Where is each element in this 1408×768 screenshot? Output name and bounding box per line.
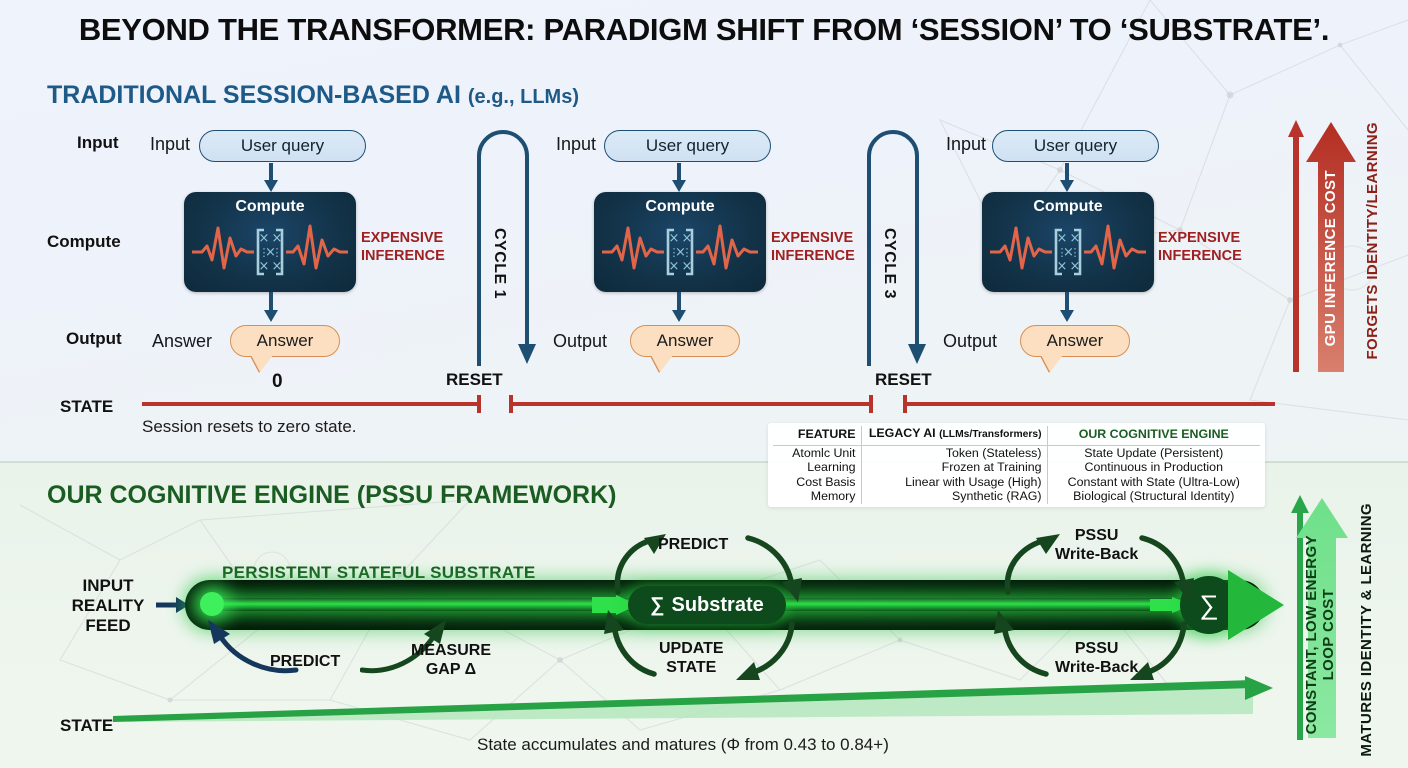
cell-feature: Memory: [773, 489, 861, 504]
svg-text:×: ×: [682, 259, 693, 274]
cycle2-compute-title: Compute: [594, 198, 766, 216]
cell-legacy: Synthetic (RAG): [861, 489, 1047, 504]
table-body: Atomlc Unit Token (Stateless) State Upda…: [773, 445, 1260, 504]
svg-text:×: ×: [669, 259, 680, 274]
table-header-ours: OUR COGNITIVE ENGINE: [1047, 426, 1260, 445]
table-row: Memory Synthetic (RAG) Biological (Struc…: [773, 489, 1260, 504]
cycle3-compute-title: Compute: [982, 198, 1154, 216]
cycle1-user-query-pill[interactable]: User query: [199, 130, 366, 162]
table-row: Cost Basis Linear with Usage (High) Cons…: [773, 475, 1260, 490]
top-section-heading: TRADITIONAL SESSION-BASED AI (e.g., LLMs…: [47, 81, 579, 110]
cycle2-compute-box: Compute × × ⋮ × ⋮ × ×: [594, 192, 766, 292]
cycle2-arrow-compute-to-answer: [670, 292, 688, 323]
cycle3-output-label: Output: [943, 331, 997, 352]
svg-text:⋮: ⋮: [682, 246, 693, 259]
bottom-section-heading: OUR COGNITIVE ENGINE (PSSU FRAMEWORK): [47, 481, 616, 510]
table-row: Atomlc Unit Token (Stateless) State Upda…: [773, 445, 1260, 460]
cycle3-compute-box: Compute × × ⋮ × ⋮ × ×: [982, 192, 1154, 292]
page-title: BEYOND THE TRANSFORMER: PARADIGM SHIFT F…: [0, 12, 1408, 48]
cycle-1-label: CYCLE 1: [490, 228, 508, 299]
pssu-writeback-bottom-label: PSSU Write-Back: [1055, 639, 1138, 677]
state-segment-3: [903, 402, 1275, 406]
svg-text:×: ×: [1070, 231, 1081, 246]
infographic-root: BEYOND THE TRANSFORMER: PARADIGM SHIFT F…: [0, 0, 1408, 768]
svg-text:×: ×: [272, 259, 283, 274]
row-label-state: STATE: [60, 397, 113, 417]
cycle1-answer-bubble[interactable]: Answer: [230, 325, 340, 357]
comparison-table: FEATURE LEGACY AI (LLMs/Transformers) OU…: [768, 423, 1265, 507]
cell-ours: State Update (Persistent): [1047, 445, 1260, 460]
cycle1-arrow-compute-to-answer: [262, 292, 280, 323]
row-label-compute: Compute: [47, 232, 121, 252]
bottom-state-label: STATE: [60, 716, 113, 736]
top-heading-main: TRADITIONAL SESSION-BASED AI: [47, 81, 461, 109]
cycle1-compute-title: Compute: [184, 198, 356, 216]
cycle1-input-label: Input: [150, 134, 190, 155]
table-header-row: FEATURE LEGACY AI (LLMs/Transformers) OU…: [773, 426, 1260, 445]
cycle2-user-query-pill[interactable]: User query: [604, 130, 771, 162]
cell-feature: Learning: [773, 460, 861, 475]
cycle3-user-query-pill[interactable]: User query: [992, 130, 1159, 162]
table-header-feature: FEATURE: [773, 426, 861, 445]
svg-text:×: ×: [682, 231, 693, 246]
cycle1-arrow-query-to-compute: [262, 163, 280, 193]
row-label-input: Input: [77, 133, 119, 153]
state-segment-2: [509, 402, 871, 406]
constant-low-energy-label: CONSTANT, LOW ENERGY LOOP COST: [1303, 535, 1337, 734]
compute-waveform-matrix-icon: × × ⋮ × ⋮ × ×: [594, 216, 766, 286]
substrate-origin-dot: [200, 592, 224, 616]
cycle3-answer-bubble[interactable]: Answer: [1020, 325, 1130, 357]
cell-feature: Atomlc Unit: [773, 445, 861, 460]
forgets-identity-label: FORGETS IDENTITY/LEARNING: [1364, 122, 1381, 360]
svg-text:×: ×: [669, 231, 680, 246]
cycle3-arrow-query-to-compute: [1058, 163, 1076, 193]
cycle1-expensive-inference-label: EXPENSIVE INFERENCE: [361, 229, 445, 265]
cycle3-answer-bubble-tail: [1041, 355, 1063, 372]
cycle3-expensive-inference-label: EXPENSIVE INFERENCE: [1158, 229, 1242, 265]
predict-top-label: PREDICT: [658, 535, 728, 554]
cycle2-answer-bubble-tail: [651, 355, 673, 372]
cycle1-compute-box: Compute × × ⋮ × ⋮ × ×: [184, 192, 356, 292]
svg-text:×: ×: [272, 231, 283, 246]
bottom-state-note: State accumulates and matures (Φ from 0.…: [477, 735, 889, 755]
cycle2-output-label: Output: [553, 331, 607, 352]
cell-legacy: Linear with Usage (High): [861, 475, 1047, 490]
cell-feature: Cost Basis: [773, 475, 861, 490]
state-growth-ramp: [113, 676, 1273, 724]
cell-legacy: Token (Stateless): [861, 445, 1047, 460]
cell-ours: Constant with State (Ultra-Low): [1047, 475, 1260, 490]
cycle2-answer-bubble[interactable]: Answer: [630, 325, 740, 357]
predict-left-label: PREDICT: [270, 652, 340, 671]
row-label-output: Output: [66, 329, 122, 349]
state-reset-cap-2a: [869, 395, 873, 413]
table-header-legacy: LEGACY AI (LLMs/Transformers): [861, 426, 1047, 445]
pssu-writeback-top-label: PSSU Write-Back: [1055, 526, 1138, 564]
cycle1-zero-state-label: 0: [272, 371, 283, 393]
svg-text:×: ×: [259, 231, 270, 246]
measure-gap-label: MEASURE GAP Δ: [411, 641, 491, 679]
svg-text:×: ×: [1057, 259, 1068, 274]
update-state-label: UPDATE STATE: [659, 639, 724, 677]
cell-legacy: Frozen at Training: [861, 460, 1047, 475]
gpu-inference-cost-label: GPU INFERENCE COST: [1322, 170, 1339, 346]
svg-text:×: ×: [1057, 231, 1068, 246]
top-heading-paren: (e.g., LLMs): [468, 86, 579, 108]
cycle2-arrow-query-to-compute: [670, 163, 688, 193]
state-segment-1: [142, 402, 479, 406]
top-state-note: Session resets to zero state.: [142, 417, 357, 437]
compute-waveform-matrix-icon: × × ⋮ × ⋮ × ×: [184, 216, 356, 286]
cycle2-input-label: Input: [556, 134, 596, 155]
state-reset-cap-1a: [477, 395, 481, 413]
matures-identity-label: MATURES IDENTITY & LEARNING: [1358, 503, 1375, 757]
cycle1-output-label: Answer: [152, 331, 212, 352]
cycle3-arrow-compute-to-answer: [1058, 292, 1076, 323]
input-reality-feed-label: INPUT REALITY FEED: [60, 576, 156, 636]
cycle-3-label: CYCLE 3: [880, 228, 898, 299]
cycle2-expensive-inference-label: EXPENSIVE INFERENCE: [771, 229, 855, 265]
svg-text:×: ×: [259, 259, 270, 274]
cycle1-answer-bubble-tail: [251, 355, 273, 372]
cycle3-input-label: Input: [946, 134, 986, 155]
cell-ours: Continuous in Production: [1047, 460, 1260, 475]
thin-red-cost-arrow: [1288, 120, 1304, 372]
table-row: Learning Frozen at Training Continuous i…: [773, 460, 1260, 475]
reset-label-1: RESET: [446, 370, 503, 390]
compute-waveform-matrix-icon: × × ⋮ × ⋮ × ×: [982, 216, 1154, 286]
svg-text:×: ×: [1070, 259, 1081, 274]
output-arrowhead: [1228, 570, 1284, 640]
reset-label-2: RESET: [875, 370, 932, 390]
svg-text:⋮: ⋮: [1070, 246, 1081, 259]
svg-text:⋮: ⋮: [272, 246, 283, 259]
cell-ours: Biological (Structural Identity): [1047, 489, 1260, 504]
